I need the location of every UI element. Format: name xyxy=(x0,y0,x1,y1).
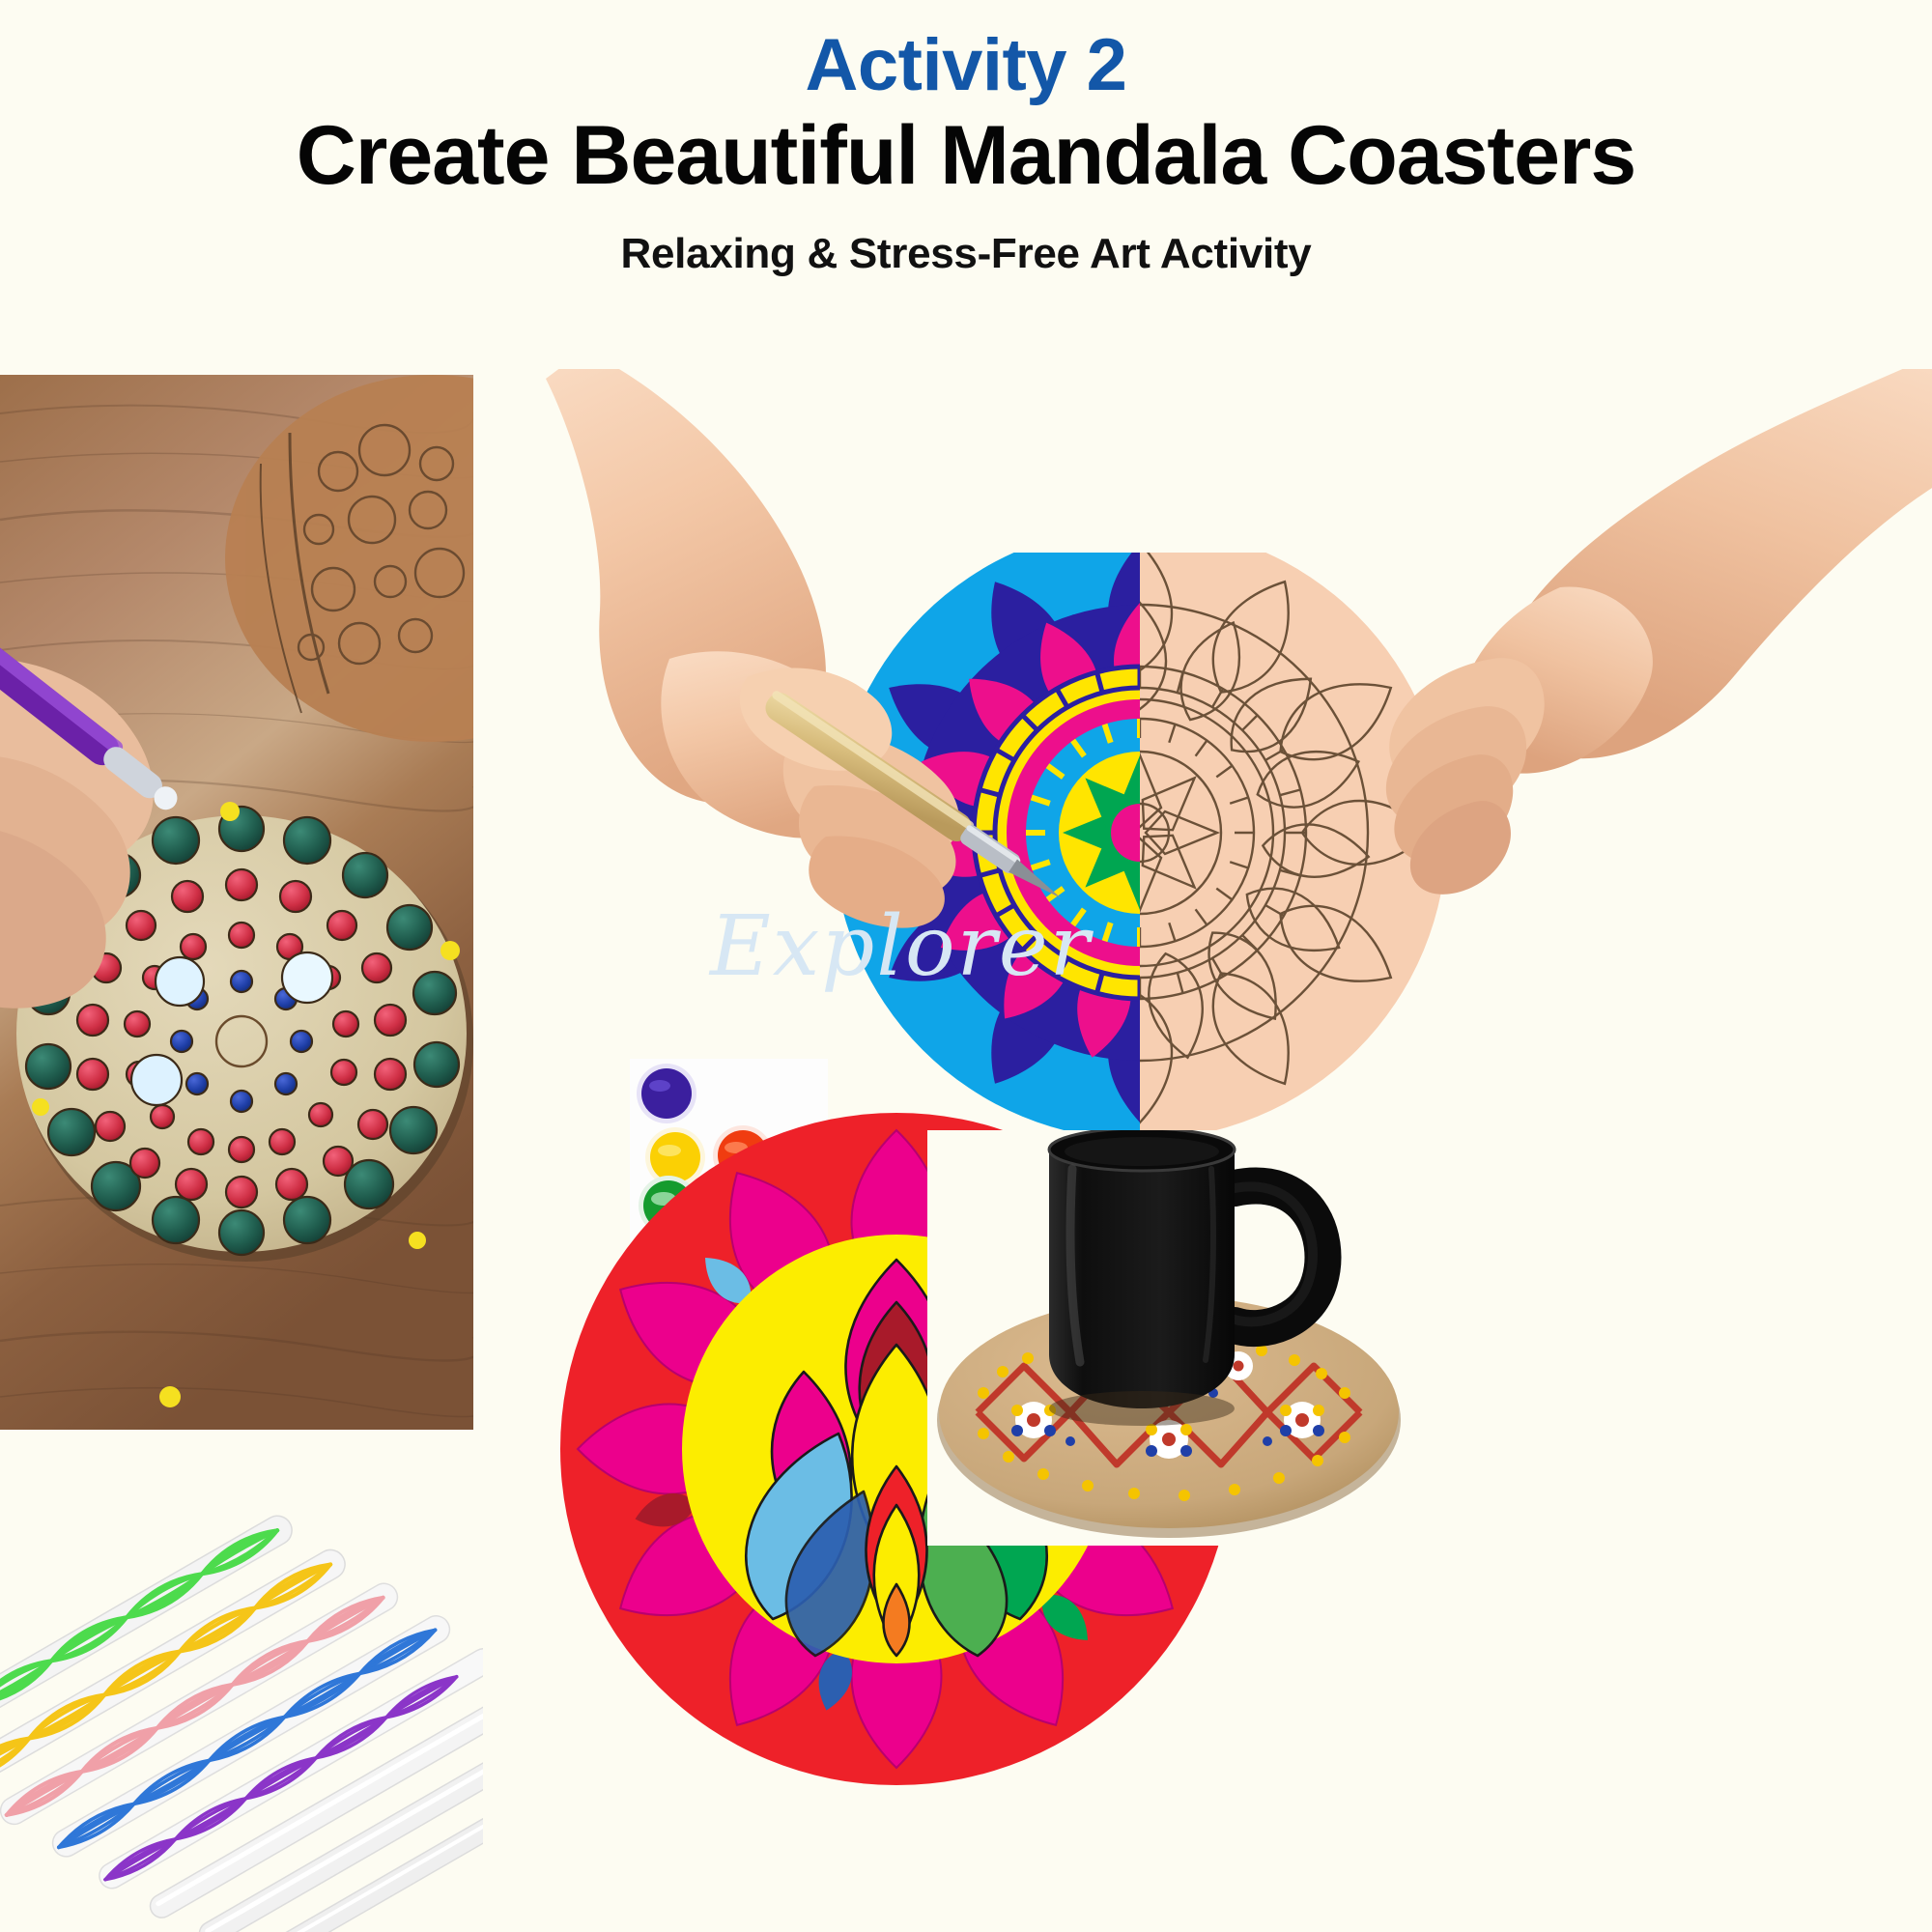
black-mug-on-coaster-photo xyxy=(927,1130,1410,1546)
page-header: Activity 2 Create Beautiful Mandala Coas… xyxy=(0,0,1932,367)
dot-mandala-in-progress-photo xyxy=(0,375,473,1430)
hands-painting-mandala-photo xyxy=(507,369,1932,1171)
quilling-straws-photo xyxy=(0,1449,483,1932)
page-subtitle: Relaxing & Stress-Free Art Activity xyxy=(0,230,1932,278)
page-title: Create Beautiful Mandala Coasters xyxy=(0,110,1932,202)
activity-label: Activity 2 xyxy=(0,27,1932,104)
